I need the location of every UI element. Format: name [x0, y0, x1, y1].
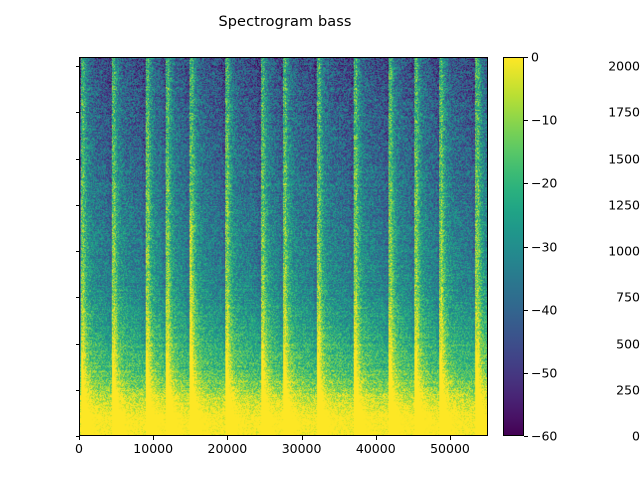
- x-tick-mark: [450, 436, 451, 440]
- x-tick-mark: [376, 436, 377, 440]
- colorbar-tick-label: −40: [531, 302, 557, 317]
- y-tick-mark: [76, 297, 80, 298]
- colorbar-tick-label: −10: [531, 113, 557, 128]
- y-tick-label: 0: [572, 429, 640, 444]
- y-tick-label: 250: [572, 382, 640, 397]
- colorbar-tick-mark: [524, 183, 528, 184]
- y-tick-label: 2000: [572, 59, 640, 74]
- y-tick-mark: [76, 159, 80, 160]
- colorbar-tick-label: −30: [531, 239, 557, 254]
- y-tick-label: 1750: [572, 105, 640, 120]
- x-tick-mark: [79, 436, 80, 440]
- x-tick-mark: [227, 436, 228, 440]
- x-tick-label: 20000: [207, 441, 247, 456]
- colorbar-tick-mark: [524, 57, 528, 58]
- colorbar-tick-label: −20: [531, 176, 557, 191]
- colorbar-tick-mark: [524, 436, 528, 437]
- y-tick-label: 1000: [572, 244, 640, 259]
- colorbar-tick-mark: [524, 247, 528, 248]
- y-tick-mark: [76, 251, 80, 252]
- y-tick-label: 1500: [572, 151, 640, 166]
- spectrogram-heatmap: [80, 58, 487, 435]
- colorbar-gradient: [504, 58, 523, 435]
- x-tick-label: 50000: [430, 441, 470, 456]
- x-tick-mark: [153, 436, 154, 440]
- y-tick-mark: [76, 112, 80, 113]
- x-tick-mark: [302, 436, 303, 440]
- y-tick-mark: [76, 390, 80, 391]
- colorbar-tick-mark: [524, 373, 528, 374]
- y-tick-label: 1250: [572, 197, 640, 212]
- y-tick-mark: [76, 344, 80, 345]
- x-tick-label: 30000: [282, 441, 322, 456]
- y-tick-label: 500: [572, 336, 640, 351]
- colorbar-tick-label: −60: [531, 429, 557, 444]
- colorbar: [503, 57, 524, 436]
- y-tick-label: 750: [572, 290, 640, 305]
- colorbar-tick-label: 0: [531, 50, 539, 65]
- x-tick-label: 40000: [356, 441, 396, 456]
- y-tick-mark: [76, 66, 80, 67]
- colorbar-tick-mark: [524, 120, 528, 121]
- x-tick-label: 0: [75, 441, 83, 456]
- page-title: Spectrogram bass: [0, 14, 570, 30]
- spectrogram-axes: [79, 57, 488, 436]
- colorbar-tick-mark: [524, 310, 528, 311]
- y-tick-mark: [76, 205, 80, 206]
- colorbar-tick-label: −50: [531, 365, 557, 380]
- x-tick-label: 10000: [133, 441, 173, 456]
- spectrogram-figure: Spectrogram bass 02505007501000125015001…: [0, 0, 640, 480]
